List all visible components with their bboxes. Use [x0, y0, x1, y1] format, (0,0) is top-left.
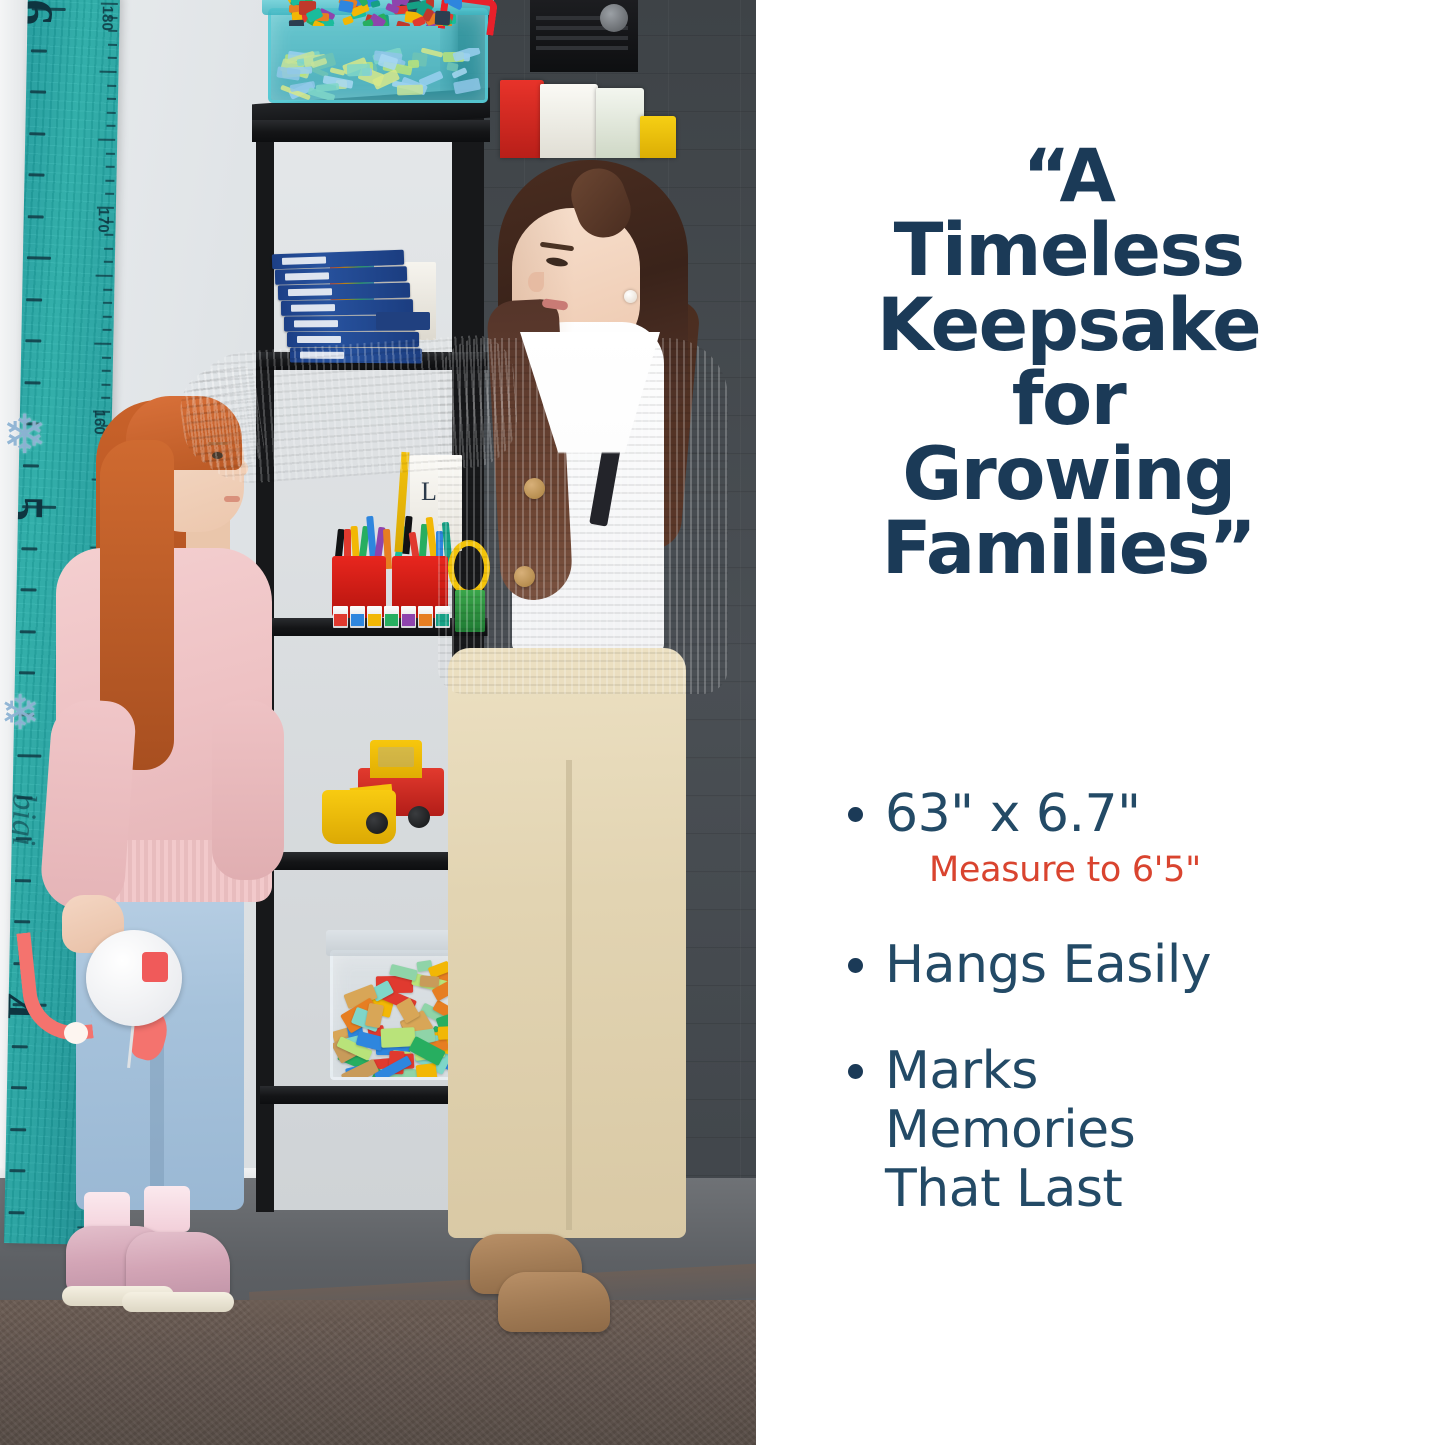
woman-nose [528, 272, 544, 292]
bullet-subtext: Measure to 6'5" [929, 850, 1201, 890]
list-item: 63" x 6.7" Measure to 6'5" [848, 785, 1408, 890]
snowflake-icon: ❄ [2, 408, 47, 462]
trouser-crease [566, 760, 572, 1230]
lego-bricks-pile [282, 0, 462, 26]
toy-wheel [408, 806, 430, 828]
toy-bulldozer-cab [370, 740, 422, 778]
bullet-dot-icon [848, 958, 863, 973]
toy-wheel [366, 812, 388, 834]
bullet-label: 63" x 6.7" [885, 785, 1201, 844]
child-lips [224, 496, 240, 502]
bullet-label: Hangs Easily [885, 936, 1211, 995]
clear-block-bin [330, 950, 460, 1080]
child-sleeve-right [212, 700, 284, 880]
page-headline: “A Timeless Keepsake for Growing Familie… [756, 140, 1381, 587]
paint-bottles [333, 606, 453, 628]
woman-shoe-right [498, 1272, 610, 1332]
plush-toy-patch [142, 952, 168, 982]
snowflake-icon: ❄ [0, 690, 40, 738]
carton-label [376, 312, 430, 330]
bin-contents-blocks [276, 48, 481, 100]
child-sock-right [144, 1186, 190, 1232]
shelf-board-1 [252, 120, 490, 142]
cardigan-button [524, 478, 545, 499]
list-item: Hangs Easily [848, 936, 1408, 995]
content-panel: “A Timeless Keepsake for Growing Familie… [756, 0, 1445, 1445]
child-shoe-sole-right [122, 1292, 234, 1312]
clear-bin-lid [326, 930, 466, 956]
list-item: Marks Memories That Last [848, 1042, 1408, 1220]
infographic-page: 180170160150140 6 5 4 bigi ❄ ❄ [0, 0, 1445, 1445]
wall-clock-icon [600, 4, 628, 32]
cardigan-button [514, 566, 535, 587]
lifestyle-photo: 180170160150140 6 5 4 bigi ❄ ❄ [0, 0, 756, 1445]
bullet-label: Marks Memories That Last [885, 1042, 1215, 1220]
woman-earring [624, 290, 637, 303]
floor-carpet-texture [0, 1300, 756, 1445]
bullet-dot-icon [848, 807, 863, 822]
feature-bullet-list: 63" x 6.7" Measure to 6'5" Hangs Easily … [848, 785, 1408, 1265]
picture-books [500, 78, 670, 158]
child-sleeve-left [39, 697, 137, 912]
bullet-dot-icon [848, 1064, 863, 1079]
plush-toy-tail-tip [64, 1022, 88, 1044]
